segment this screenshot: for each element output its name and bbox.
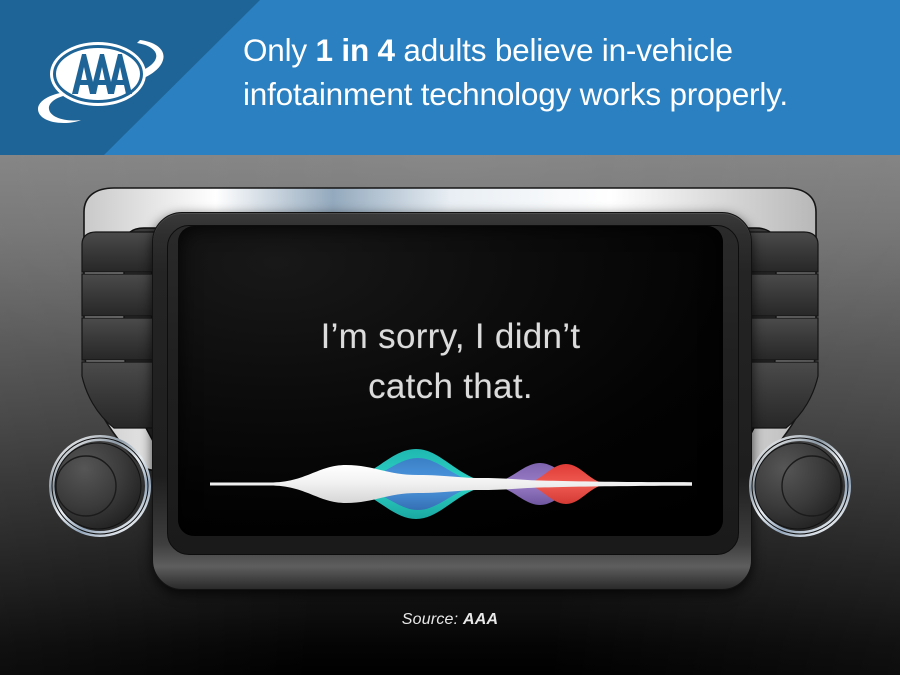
headline-prefix: Only [243,32,316,68]
infotainment-screen[interactable]: I’m sorry, I didn’t catch that. [178,226,723,536]
source-caption: Source: AAA [0,611,900,629]
headline-emphasis: 1 in 4 [316,32,395,68]
message-line-2: catch that. [178,362,723,412]
source-value: AAA [463,611,498,628]
voice-assistant-message: I’m sorry, I didn’t catch that. [178,312,723,412]
control-knob-right[interactable] [748,434,852,538]
infographic-canvas: Only 1 in 4 adults believe in-vehicle in… [0,0,900,675]
page-headline: Only 1 in 4 adults believe in-vehicle in… [243,28,883,116]
header-banner: Only 1 in 4 adults believe in-vehicle in… [0,0,900,155]
source-label: Source: [402,611,463,628]
aaa-logo [36,32,172,124]
siri-voice-waveform [210,441,692,527]
message-line-1: I’m sorry, I didn’t [178,312,723,362]
control-knob-left[interactable] [48,434,152,538]
